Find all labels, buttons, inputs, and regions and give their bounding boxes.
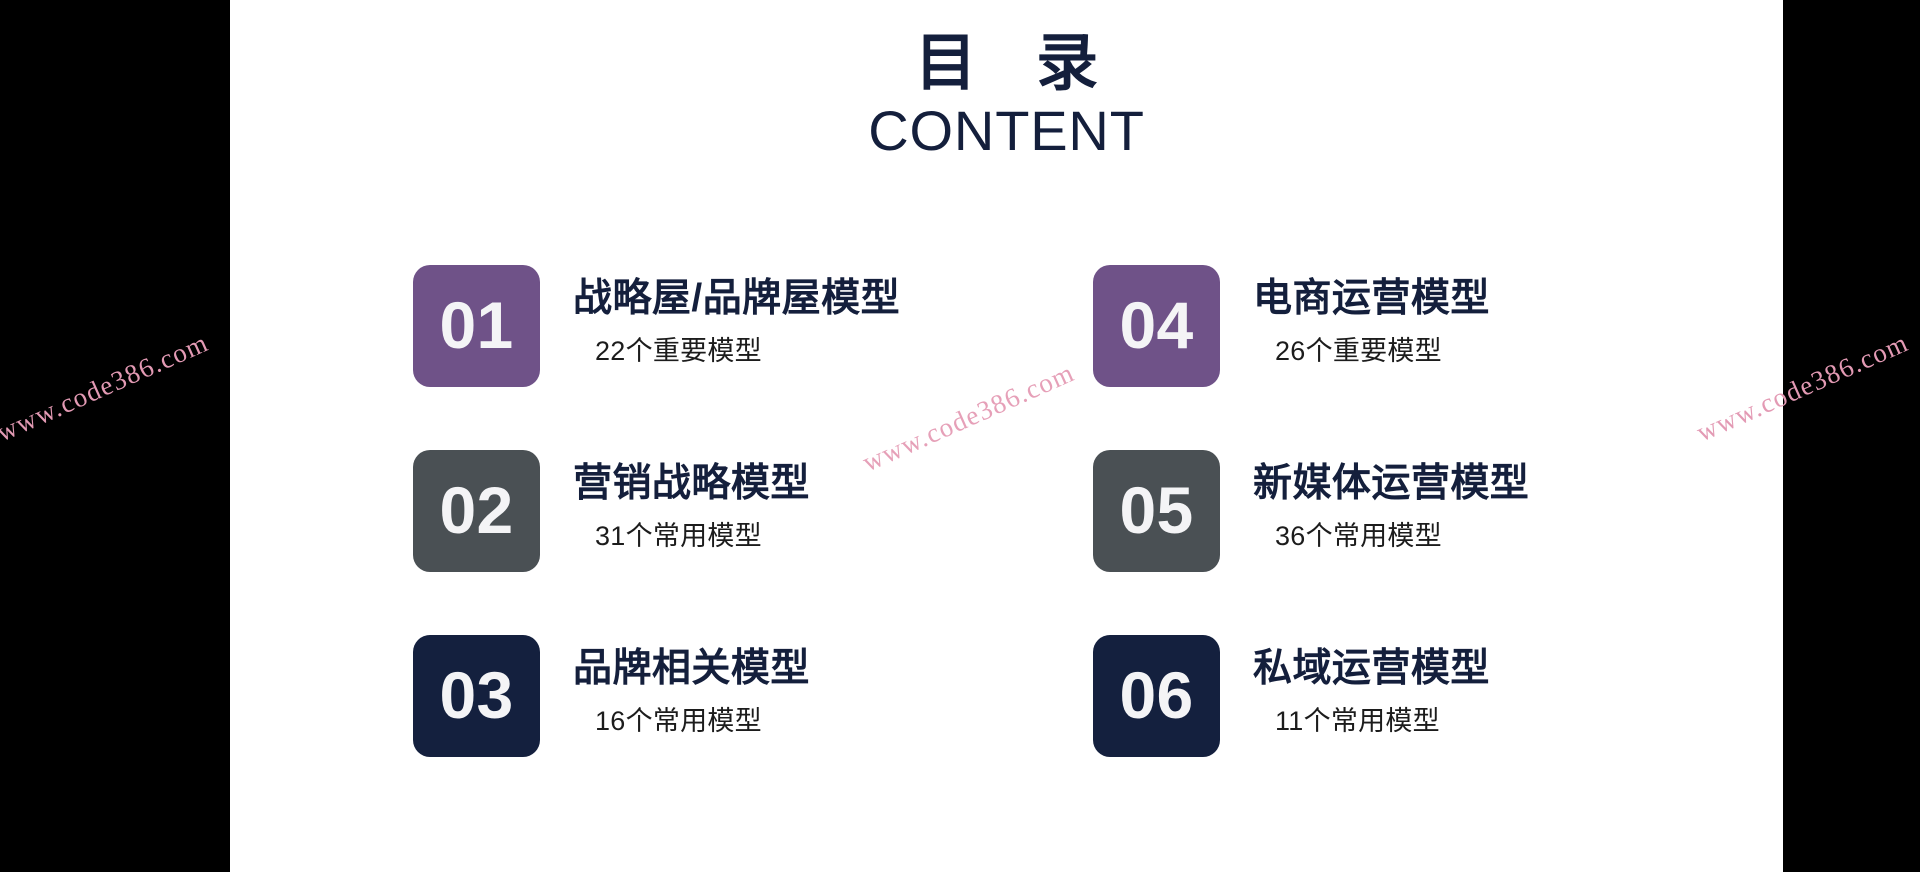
toc-item-subtitle-03: 16个常用模型 (595, 706, 762, 737)
toc-item-title-01: 战略屋/品牌屋模型 (573, 277, 900, 321)
toc-number-badge-02: 02 (413, 450, 540, 572)
letterbox-right (1783, 0, 1920, 872)
toc-item-text-01: 战略屋/品牌屋模型 22个重要模型 (573, 265, 900, 367)
toc-item-01[interactable]: 01 战略屋/品牌屋模型 22个重要模型 (413, 265, 1093, 450)
toc-number-badge-03: 03 (413, 635, 540, 757)
toc-item-title-05: 新媒体运营模型 (1253, 462, 1529, 506)
slide-canvas: 目 录 CONTENT 01 战略屋/品牌屋模型 22个重要模型 04 电商运营… (230, 0, 1783, 872)
toc-items-grid: 01 战略屋/品牌屋模型 22个重要模型 04 电商运营模型 26个重要模型 (413, 265, 1783, 820)
toc-item-02[interactable]: 02 营销战略模型 31个常用模型 (413, 450, 1093, 635)
page-title: 目 录 CONTENT (230, 30, 1783, 163)
toc-number-badge-04: 04 (1093, 265, 1220, 387)
toc-item-subtitle-01: 22个重要模型 (595, 336, 762, 367)
toc-item-03[interactable]: 03 品牌相关模型 16个常用模型 (413, 635, 1093, 820)
toc-number-badge-06: 06 (1093, 635, 1220, 757)
toc-item-subtitle-02: 31个常用模型 (595, 521, 762, 552)
toc-item-text-05: 新媒体运营模型 36个常用模型 (1253, 450, 1529, 552)
toc-number-badge-05: 05 (1093, 450, 1220, 572)
toc-number-badge-01: 01 (413, 265, 540, 387)
toc-item-title-02: 营销战略模型 (573, 462, 810, 506)
toc-item-05[interactable]: 05 新媒体运营模型 36个常用模型 (1093, 450, 1783, 635)
toc-item-subtitle-04: 26个重要模型 (1275, 336, 1442, 367)
toc-item-04[interactable]: 04 电商运营模型 26个重要模型 (1093, 265, 1783, 450)
toc-item-text-03: 品牌相关模型 16个常用模型 (573, 635, 810, 737)
toc-item-text-06: 私域运营模型 11个常用模型 (1253, 635, 1490, 737)
slide-root: 目 录 CONTENT 01 战略屋/品牌屋模型 22个重要模型 04 电商运营… (0, 0, 1920, 872)
toc-item-title-06: 私域运营模型 (1253, 647, 1490, 691)
toc-row: 02 营销战略模型 31个常用模型 05 新媒体运营模型 36个常用模型 (413, 450, 1783, 635)
toc-item-text-04: 电商运营模型 26个重要模型 (1253, 265, 1490, 367)
toc-item-title-03: 品牌相关模型 (573, 647, 810, 691)
toc-row: 01 战略屋/品牌屋模型 22个重要模型 04 电商运营模型 26个重要模型 (413, 265, 1783, 450)
page-title-en: CONTENT (230, 100, 1783, 163)
toc-item-text-02: 营销战略模型 31个常用模型 (573, 450, 810, 552)
toc-row: 03 品牌相关模型 16个常用模型 06 私域运营模型 11个常用模型 (413, 635, 1783, 820)
letterbox-left (0, 0, 230, 872)
toc-item-title-04: 电商运营模型 (1253, 277, 1490, 321)
page-title-cn: 目 录 (230, 30, 1783, 98)
toc-item-subtitle-06: 11个常用模型 (1275, 706, 1440, 737)
toc-item-06[interactable]: 06 私域运营模型 11个常用模型 (1093, 635, 1783, 820)
toc-item-subtitle-05: 36个常用模型 (1275, 521, 1442, 552)
